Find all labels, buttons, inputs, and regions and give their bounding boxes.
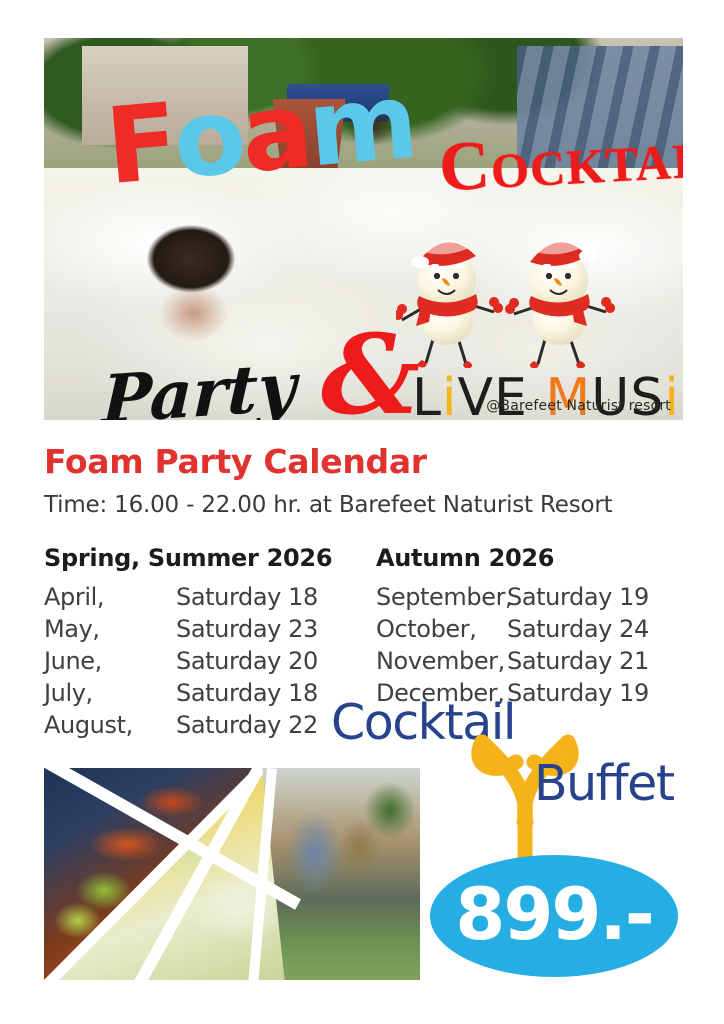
calendar-month: June, [44,646,176,678]
calendar-month: September, [376,582,507,614]
foam-letter-0: F [102,90,179,201]
calendar-month: October, [376,614,507,646]
calendar-date: Saturday 19 [507,582,649,614]
calendar-date: Saturday 21 [507,646,649,678]
buffet-word-buffet: Buffet [534,755,674,812]
hero-banner: Foam Cocktail Party & LiVE MUSiC @Barefe… [44,38,683,420]
hero-title-foam: Foam [102,69,418,200]
calendar-date: Saturday 22 [176,710,318,742]
calendar-column-autumn: Autumn 2026 September,Saturday 19 Octobe… [376,544,696,710]
calendar-date: Saturday 19 [507,678,649,710]
calendar-row: May,Saturday 23 [44,614,354,646]
live-letter-1: i [442,372,457,420]
calendar-column-spring-summer: Spring, Summer 2026 April,Saturday 18 Ma… [44,544,354,742]
live-letter-0: L [412,372,442,420]
hero-ampersand: & [321,320,420,420]
foam-letter-1: o [169,84,246,195]
snowmen-mascots [396,208,626,368]
calendar-row: September,Saturday 19 [376,582,696,614]
calendar-row: April,Saturday 18 [44,582,354,614]
hero-title-cocktail: Cocktail [437,119,683,204]
calendar-month: November, [376,646,507,678]
calendar-row: August,Saturday 22 [44,710,354,742]
event-time-line: Time: 16.00 - 22.00 hr. at Barefeet Natu… [44,492,612,518]
calendar-date: Saturday 23 [176,614,318,646]
photo-collage [44,768,420,980]
price-value: 899.- [455,878,653,950]
foam-letter-2: a [237,78,313,188]
calendar-date: Saturday 20 [176,646,318,678]
page-title: Foam Party Calendar [44,442,427,481]
calendar-row: October,Saturday 24 [376,614,696,646]
hero-credit: @Barefeet Naturist resort [486,398,671,414]
hero-title-party: Party [101,353,297,420]
price-badge: 899.- [430,855,678,977]
calendar-row: June,Saturday 20 [44,646,354,678]
foam-letter-3: m [304,69,418,183]
calendar-date: Saturday 24 [507,614,649,646]
calendar-month: July, [44,678,176,710]
calendar-row: November,Saturday 21 [376,646,696,678]
calendar-column-heading: Spring, Summer 2026 [44,544,354,572]
snowman-mascot-right [505,240,615,368]
calendar-column-heading: Autumn 2026 [376,544,696,572]
calendar-date: Saturday 18 [176,582,318,614]
calendar-month: August, [44,710,176,742]
calendar-month: April, [44,582,176,614]
calendar-row: July,Saturday 18 [44,678,354,710]
calendar-month: May, [44,614,176,646]
calendar-date: Saturday 18 [176,678,318,710]
